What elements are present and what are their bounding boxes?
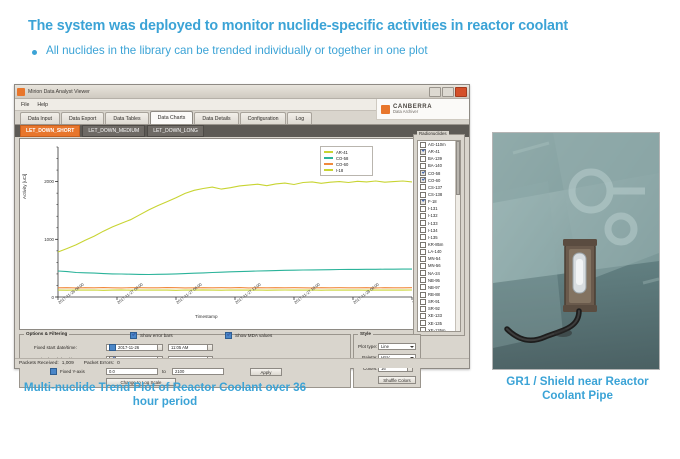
nuclide-item[interactable]: BA-139 <box>418 155 460 162</box>
y-tick-label: 0 <box>32 295 54 300</box>
nuclide-label: I-132 <box>428 213 438 218</box>
legend-swatch <box>324 169 333 171</box>
nuclide-item[interactable]: RB-88 <box>418 291 460 298</box>
y-tick-label: 2000 <box>32 179 54 184</box>
nuclide-label: SR-91 <box>428 299 440 304</box>
fixed-start-time-value: 11:05 AM <box>171 345 188 350</box>
page-title: The system was deployed to monitor nucli… <box>28 18 658 34</box>
y-range-to-label: to <box>162 369 166 374</box>
nuclide-checkbox[interactable] <box>420 220 426 226</box>
caption-left: Multi-nuclide Trend Plot of Reactor Cool… <box>20 381 310 410</box>
bullet-text: All nuclides in the library can be trend… <box>46 44 428 58</box>
tab-data-details[interactable]: Data Details <box>194 112 238 124</box>
y-min-value: 0.0 <box>109 369 115 374</box>
close-button[interactable] <box>455 87 467 97</box>
fixed-y-axis-row[interactable]: Fixed Y-axis <box>50 368 85 375</box>
nuclide-list-scrollbar[interactable] <box>455 141 460 331</box>
nuclide-checkbox[interactable] <box>420 270 426 276</box>
nuclide-label: I-135 <box>428 235 438 240</box>
nuclide-label: CS-138 <box>428 192 442 197</box>
legend-entry: I-18 <box>324 167 369 173</box>
nuclide-label: I-133 <box>428 221 438 226</box>
nuclide-list-scroll-thumb[interactable] <box>456 141 460 195</box>
nuclide-item[interactable]: CS-137 <box>418 184 460 191</box>
y-min-input[interactable]: 0.0 <box>106 368 158 375</box>
fixed-start-label: Fixed start date/time: <box>34 345 77 350</box>
nuclide-item[interactable]: XE-135m <box>418 327 460 332</box>
legend-label: CO-58 <box>336 156 348 161</box>
bullet-dot-icon <box>32 50 37 55</box>
packets-received-value: 1,009 <box>62 361 74 366</box>
nuclide-item[interactable]: I-135 <box>418 234 460 241</box>
apply-button[interactable]: Apply <box>250 368 282 376</box>
minimize-button[interactable] <box>429 87 441 97</box>
nuclide-checkbox[interactable] <box>420 249 426 255</box>
plot-type-value: Line <box>381 344 389 349</box>
nuclide-item[interactable]: NB-97 <box>418 284 460 291</box>
nuclide-label: KR-85m <box>428 242 443 247</box>
plot-type-label: Plot type: <box>358 344 377 349</box>
nuclide-label: CO-60 <box>428 178 440 183</box>
chevron-down-icon <box>410 346 414 348</box>
fixed-start-date-group[interactable]: 2017-11-26 <box>106 344 163 351</box>
nuclide-item[interactable]: CO-58 <box>418 170 460 177</box>
nuclide-checkbox[interactable] <box>420 284 426 290</box>
nuclide-item[interactable]: I-133 <box>418 220 460 227</box>
caption-right: GR1 / Shield near Reactor Coolant Pipe <box>500 375 655 404</box>
nuclide-label: CO-58 <box>428 171 440 176</box>
slide-root: The system was deployed to monitor nucli… <box>0 0 680 459</box>
nuclide-label: XE-135m <box>428 328 445 332</box>
nuclide-label: BA-140 <box>428 163 442 168</box>
nuclide-checkbox[interactable] <box>420 256 426 262</box>
window-title: Mirion Data Analyst Viewer <box>28 89 90 95</box>
legend-label: I-18 <box>336 168 343 173</box>
nuclide-label: NB-97 <box>428 285 440 290</box>
nuclide-checkbox[interactable] <box>420 299 426 305</box>
nuclide-checkbox[interactable] <box>420 320 426 326</box>
nuclide-label: RB-88 <box>428 292 440 297</box>
options-panel-label: Options & Filtering <box>24 331 69 336</box>
nuclide-item[interactable]: BA-140 <box>418 162 460 169</box>
nuclide-checkbox[interactable] <box>420 170 426 176</box>
nuclide-label: NB-95 <box>428 278 440 283</box>
menu-item-help[interactable]: Help <box>37 102 48 108</box>
nuclide-label: AG-110m <box>428 142 446 147</box>
shuffle-colors-button[interactable]: Shuffle Colors <box>378 376 416 384</box>
nuclide-label: BA-139 <box>428 156 442 161</box>
fixed-start-time-spinner[interactable] <box>208 344 213 351</box>
maximize-button[interactable] <box>442 87 454 97</box>
show-mda-values-label: Show MDA values <box>235 333 272 338</box>
nuclide-checkbox[interactable] <box>420 327 426 332</box>
series-line <box>58 181 412 252</box>
tab-data-export[interactable]: Data Export <box>61 112 104 124</box>
app-icon <box>17 88 25 96</box>
menu-item-file[interactable]: File <box>21 102 29 108</box>
nuclide-checkbox[interactable] <box>420 206 426 212</box>
nuclide-label: MN-54 <box>428 256 441 261</box>
nuclide-label: XE-135 <box>428 321 442 326</box>
nuclide-item[interactable]: CO-60 <box>418 177 460 184</box>
chart-area[interactable]: Activity [uCi] Timestamp 010002000 2017-… <box>19 138 421 330</box>
nuclide-label: CS-137 <box>428 185 442 190</box>
nuclide-checkbox[interactable] <box>420 177 426 183</box>
nuclide-checkbox[interactable] <box>420 199 426 205</box>
legend-label: AR-41 <box>336 150 348 155</box>
fixed-start-row: Fixed start date/time: <box>34 345 77 350</box>
fixed-start-time-input[interactable]: 11:05 AM <box>168 344 208 351</box>
nuclide-label: I-134 <box>428 228 438 233</box>
tab-data-charts[interactable]: Data Charts <box>150 111 194 124</box>
status-bar: Packets Received: 1,009 Packet Errors: 0 <box>15 358 469 368</box>
packet-errors-label: Packet Errors: <box>84 361 114 366</box>
x-axis-label: Timestamp <box>195 314 218 319</box>
show-mda-values-row[interactable]: Show MDA values <box>225 332 272 339</box>
packet-errors-value: 0 <box>117 361 120 366</box>
nuclide-checkbox[interactable] <box>420 313 426 319</box>
nuclide-label: SR-92 <box>428 306 440 311</box>
application-window: Mirion Data Analyst Viewer File Help CAN… <box>14 84 470 369</box>
sub-tabstrip: LET_DOWN_SHORTLET_DOWN_MEDIUMLET_DOWN_LO… <box>15 125 469 137</box>
nuclide-item[interactable]: XE-133 <box>418 312 460 319</box>
nuclide-item[interactable]: SR-91 <box>418 298 460 305</box>
nuclide-item[interactable]: CS-138 <box>418 191 460 198</box>
y-tick-label: 1000 <box>32 237 54 242</box>
nuclide-item[interactable]: MN-54 <box>418 255 460 262</box>
nuclide-item[interactable]: NA-24 <box>418 270 460 277</box>
subtab-let_down_short[interactable]: LET_DOWN_SHORT <box>20 125 80 137</box>
nuclide-item[interactable]: AR-41 <box>418 148 460 155</box>
nuclide-label: NA-24 <box>428 271 440 276</box>
fixed-start-date-dropdown[interactable] <box>158 344 163 351</box>
nuclide-item[interactable]: MN-56 <box>418 262 460 269</box>
nuclide-item[interactable]: NB-95 <box>418 277 460 284</box>
legend-label: CO-60 <box>336 162 348 167</box>
nuclide-item[interactable]: XE-135 <box>418 320 460 327</box>
show-error-bars-checkbox[interactable] <box>130 332 137 339</box>
nuclide-checkbox[interactable] <box>420 149 426 155</box>
show-error-bars-label: Show error bars <box>140 333 173 338</box>
nuclide-label: AR-41 <box>428 149 440 154</box>
window-controls <box>429 87 467 97</box>
nuclide-checkbox[interactable] <box>420 184 426 190</box>
bullet-item: All nuclides in the library can be trend… <box>32 44 652 58</box>
nuclide-item[interactable]: I-132 <box>418 212 460 219</box>
nuclide-item[interactable]: I-131 <box>418 205 460 212</box>
nuclide-label: MN-56 <box>428 263 441 268</box>
detector-photo <box>492 132 660 370</box>
legend-swatch <box>324 151 333 153</box>
y-max-input[interactable]: 2100 <box>172 368 224 375</box>
nuclide-checkbox[interactable] <box>420 213 426 219</box>
radionuclide-panel-label: Radionuclides <box>417 131 449 136</box>
nuclide-checkbox[interactable] <box>420 156 426 162</box>
legend-swatch <box>324 157 333 159</box>
nuclide-checkbox[interactable] <box>420 263 426 269</box>
nuclide-checkbox[interactable] <box>420 234 426 240</box>
y-max-value: 2100 <box>175 369 184 374</box>
fixed-y-axis-checkbox[interactable] <box>50 368 57 375</box>
y-axis-label: Activity [uCi] <box>22 174 27 199</box>
subtab-let_down_long[interactable]: LET_DOWN_LONG <box>147 125 204 137</box>
detector-photo-image <box>493 133 659 369</box>
nuclide-label: XE-133 <box>428 313 442 318</box>
series-line <box>58 269 412 274</box>
nuclide-item[interactable]: LA-140 <box>418 248 460 255</box>
fixed-start-time-group[interactable]: 11:05 AM <box>168 344 213 351</box>
show-mda-values-checkbox[interactable] <box>225 332 232 339</box>
brand-subtitle: Data Archiver <box>393 110 432 114</box>
plot-type-select[interactable]: Line <box>378 343 416 350</box>
nuclide-checkbox[interactable] <box>420 292 426 298</box>
subtab-let_down_medium[interactable]: LET_DOWN_MEDIUM <box>82 125 145 137</box>
chart-legend: AR-41CO-58CO-60I-18 <box>320 146 373 176</box>
nuclide-checkbox[interactable] <box>420 306 426 312</box>
packets-received-label: Packets Received: <box>19 361 59 366</box>
nuclide-label: I-131 <box>428 206 438 211</box>
nuclide-label: LA-140 <box>428 249 442 254</box>
nuclide-checkbox[interactable] <box>420 192 426 198</box>
nuclide-item[interactable]: KR-85m <box>418 241 460 248</box>
nuclide-checkbox[interactable] <box>420 227 426 233</box>
nuclide-checkbox[interactable] <box>420 277 426 283</box>
nuclide-item[interactable]: I-134 <box>418 227 460 234</box>
fixed-start-date-input[interactable]: 2017-11-26 <box>106 344 158 351</box>
show-error-bars-row[interactable]: Show error bars <box>130 332 173 339</box>
nuclide-item[interactable]: SR-92 <box>418 305 460 312</box>
nuclide-item[interactable]: F-18 <box>418 198 460 205</box>
nuclide-checkbox[interactable] <box>420 142 426 148</box>
plot-type-row: Plot type: <box>358 344 377 349</box>
brand-logo: CANBERRA Data Archiver <box>376 99 469 120</box>
tab-configuration[interactable]: Configuration <box>240 112 287 124</box>
fixed-start-date-enable-checkbox[interactable] <box>109 344 116 351</box>
radionuclide-list[interactable]: AG-110mAR-41BA-139BA-140CO-58CO-60CS-137… <box>417 140 461 332</box>
nuclide-checkbox[interactable] <box>420 242 426 248</box>
radionuclide-panel: Radionuclides AG-110mAR-41BA-139BA-140CO… <box>413 134 465 336</box>
nuclide-item[interactable]: AG-110m <box>418 141 460 148</box>
tab-data-tables[interactable]: Data Tables <box>105 112 148 124</box>
fixed-y-axis-label: Fixed Y-axis <box>60 369 85 374</box>
nuclide-label: F-18 <box>428 199 437 204</box>
tab-data-input[interactable]: Data Input <box>20 112 60 124</box>
style-panel-label: Style <box>358 331 373 336</box>
nuclide-checkbox[interactable] <box>420 163 426 169</box>
window-titlebar: Mirion Data Analyst Viewer <box>15 85 469 99</box>
brand-mark-icon <box>381 105 390 114</box>
fixed-start-date-value: 2017-11-26 <box>118 345 139 350</box>
legend-swatch <box>324 163 333 165</box>
tab-log[interactable]: Log <box>287 112 312 124</box>
